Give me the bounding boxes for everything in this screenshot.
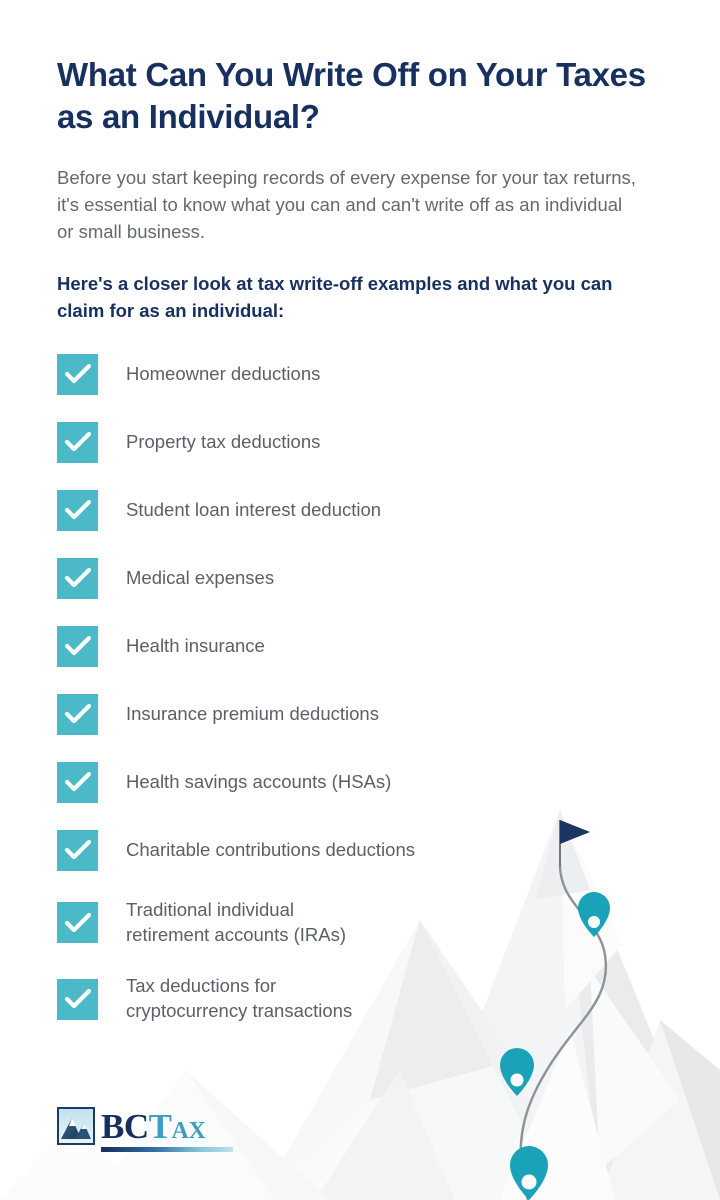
list-item[interactable]: Tax deductions for cryptocurrency transa…: [57, 974, 664, 1024]
check-icon: [57, 626, 98, 667]
list-item-label: Insurance premium deductions: [126, 702, 379, 727]
list-item-label: Medical expenses: [126, 566, 274, 591]
page-title: What Can You Write Off on Your Taxes as …: [57, 54, 664, 138]
list-item-label: Homeowner deductions: [126, 362, 320, 387]
map-pin-icon: [500, 1048, 534, 1096]
list-item-label: Traditional individual retirement accoun…: [126, 898, 346, 948]
subheading: Here's a closer look at tax write-off ex…: [57, 271, 637, 324]
logo-text-t: T: [149, 1109, 172, 1144]
mountain-icon: [57, 1107, 95, 1145]
list-item-label: Tax deductions for cryptocurrency transa…: [126, 974, 352, 1024]
list-item[interactable]: Student loan interest deduction: [57, 490, 664, 531]
intro-paragraph: Before you start keeping records of ever…: [57, 164, 637, 246]
list-item[interactable]: Charitable contributions deductions: [57, 830, 664, 871]
map-pin-icon: [510, 1146, 548, 1200]
check-icon: [57, 762, 98, 803]
logo-text-ax: AX: [171, 1119, 205, 1143]
list-item[interactable]: Traditional individual retirement accoun…: [57, 898, 664, 948]
check-icon: [57, 490, 98, 531]
check-icon: [57, 902, 98, 943]
check-icon: [57, 422, 98, 463]
list-item[interactable]: Medical expenses: [57, 558, 664, 599]
list-item-label: Health savings accounts (HSAs): [126, 770, 391, 795]
list-item[interactable]: Property tax deductions: [57, 422, 664, 463]
logo-text-bc: BC: [101, 1109, 149, 1144]
list-item-label: Health insurance: [126, 634, 265, 659]
check-icon: [57, 694, 98, 735]
bctax-logo[interactable]: BC T AX: [57, 1107, 233, 1152]
logo-underline-bar: [101, 1147, 233, 1152]
list-item[interactable]: Health insurance: [57, 626, 664, 667]
check-icon: [57, 558, 98, 599]
check-icon: [57, 979, 98, 1020]
list-item[interactable]: Homeowner deductions: [57, 354, 664, 395]
list-item[interactable]: Insurance premium deductions: [57, 694, 664, 735]
checklist: Homeowner deductions Property tax deduct…: [57, 354, 664, 1024]
list-item-label: Charitable contributions deductions: [126, 838, 415, 863]
check-icon: [57, 830, 98, 871]
list-item-label: Property tax deductions: [126, 430, 320, 455]
list-item-label: Student loan interest deduction: [126, 498, 381, 523]
check-icon: [57, 354, 98, 395]
list-item[interactable]: Health savings accounts (HSAs): [57, 762, 664, 803]
logo-wordmark: BC T AX: [101, 1109, 206, 1144]
